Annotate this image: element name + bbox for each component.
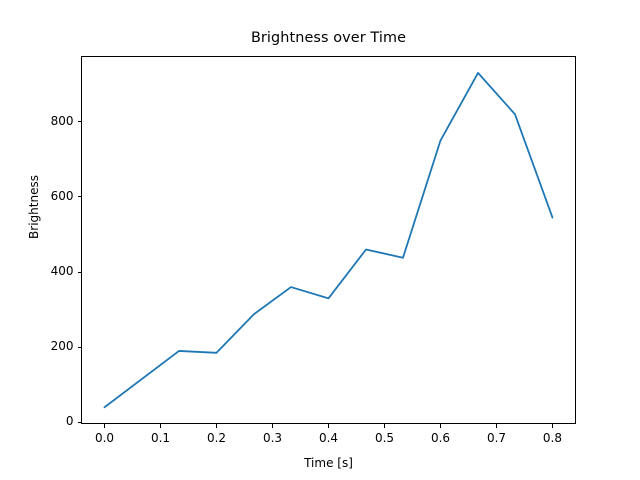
x-tick-label: 0.7 — [471, 431, 521, 445]
y-tick-mark — [78, 347, 82, 348]
x-tick-label: 0.8 — [527, 431, 577, 445]
figure-canvas: Brightness over Time Brightness Time [s]… — [0, 0, 640, 480]
x-tick-label: 0.0 — [80, 431, 130, 445]
x-tick-label: 0.5 — [359, 431, 409, 445]
y-tick-label: 200 — [14, 339, 74, 353]
y-tick-mark — [78, 196, 82, 197]
x-tick-label: 0.3 — [248, 431, 298, 445]
x-tick-mark — [440, 424, 441, 428]
x-tick-mark — [496, 424, 497, 428]
y-tick-mark — [78, 272, 82, 273]
y-tick-label: 0 — [14, 414, 74, 428]
y-tick-label: 400 — [14, 264, 74, 278]
plot-area — [81, 56, 576, 424]
chart-title: Brightness over Time — [81, 30, 576, 46]
x-tick-mark — [272, 424, 273, 428]
y-tick-mark — [78, 422, 82, 423]
x-tick-mark — [384, 424, 385, 428]
x-tick-mark — [216, 424, 217, 428]
y-tick-mark — [78, 121, 82, 122]
x-tick-mark — [552, 424, 553, 428]
x-tick-label: 0.4 — [304, 431, 354, 445]
x-tick-mark — [104, 424, 105, 428]
y-tick-label: 800 — [14, 114, 74, 128]
x-tick-label: 0.1 — [136, 431, 186, 445]
x-tick-mark — [328, 424, 329, 428]
x-tick-mark — [160, 424, 161, 428]
y-tick-label: 600 — [14, 189, 74, 203]
x-axis-label: Time [s] — [81, 456, 576, 470]
x-tick-label: 0.6 — [415, 431, 465, 445]
x-tick-label: 0.2 — [192, 431, 242, 445]
